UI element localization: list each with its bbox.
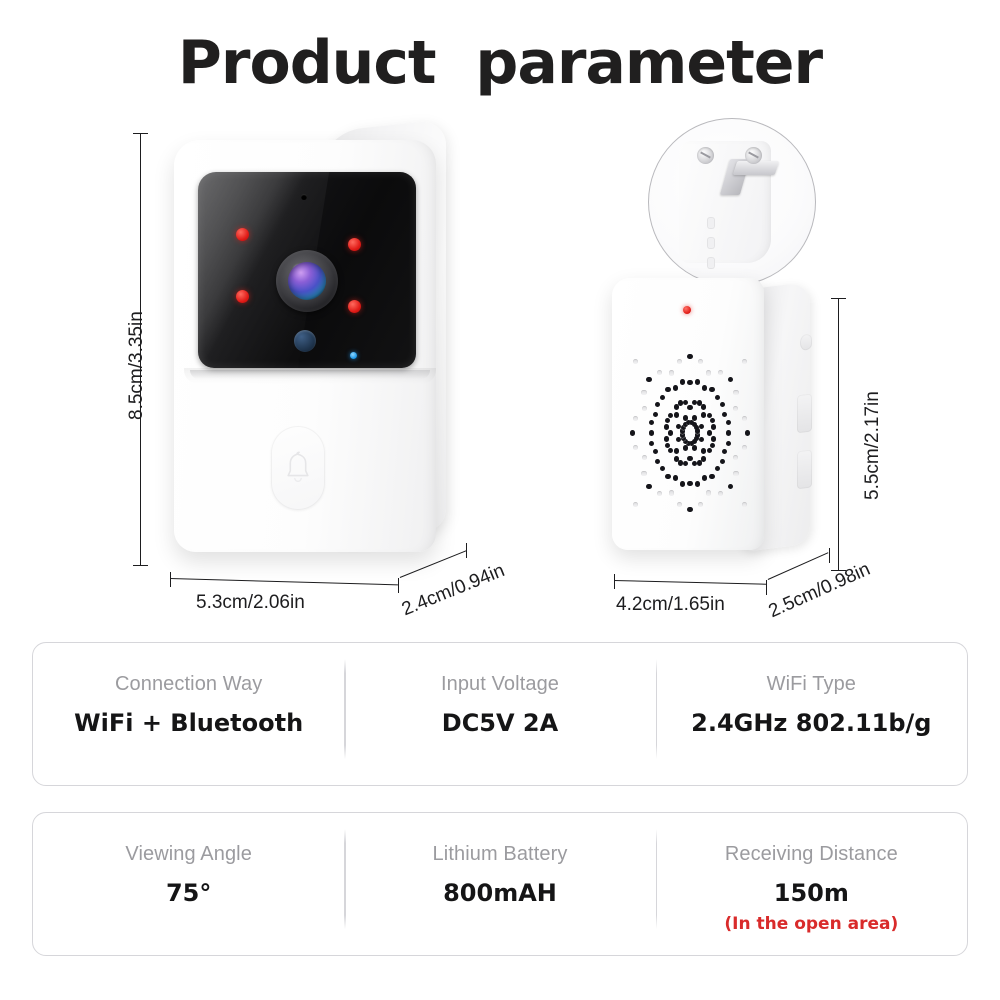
video-doorbell (168, 122, 468, 567)
spec-cell-receiving-distance: Receiving Distance 150m (In the open are… (656, 813, 967, 955)
dimension-tick (829, 548, 830, 563)
dimension-tick (614, 574, 615, 589)
spec-label: Connection Way (115, 673, 262, 696)
volume-buttons[interactable] (800, 333, 812, 350)
page-title: Product parameter (0, 28, 1000, 98)
volume-buttons[interactable] (797, 449, 812, 489)
dimension-tick (831, 298, 846, 299)
spec-row: Viewing Angle 75° Lithium Battery 800mAH… (33, 813, 967, 955)
doorbell-front-panel (198, 172, 416, 368)
infrared-led (348, 238, 361, 251)
product-hero-area: 8.5cm/3.35in 5.3cm/2.06in 2.4cm/0.94in (0, 100, 1000, 630)
spec-row: Connection Way WiFi + Bluetooth Input Vo… (33, 643, 967, 785)
spec-cell-lithium-battery: Lithium Battery 800mAH (344, 813, 655, 955)
dimension-tick (170, 572, 171, 587)
chime-height-label: 5.5cm/2.17in (862, 391, 884, 500)
spec-cell-connection-way: Connection Way WiFi + Bluetooth (33, 643, 344, 785)
volume-buttons[interactable] (797, 393, 812, 433)
chime-height-dimension-line (838, 298, 839, 570)
infrared-led (236, 290, 249, 303)
spec-value: 2.4GHz 802.11b/g (691, 709, 931, 737)
doorbell-front-body (174, 140, 436, 552)
screw-head (697, 147, 714, 164)
housing-vent (707, 217, 715, 229)
microphone-hole (301, 194, 307, 200)
spec-cell-input-voltage: Input Voltage DC5V 2A (344, 643, 655, 785)
chime-status-led (683, 306, 691, 314)
infographic-stage: Product parameter (0, 0, 1000, 1000)
spec-card: Connection Way WiFi + Bluetooth Input Vo… (32, 642, 968, 786)
spec-value: 150m (774, 879, 849, 907)
lens-highlight (294, 265, 304, 273)
spec-label: Viewing Angle (125, 843, 252, 866)
dimension-tick (466, 543, 467, 558)
spec-label: WiFi Type (767, 673, 856, 696)
doorbell-height-label: 8.5cm/3.35in (126, 311, 148, 420)
doorbell-depth-label: 2.4cm/0.94in (399, 560, 508, 621)
spec-card: Viewing Angle 75° Lithium Battery 800mAH… (32, 812, 968, 956)
spec-cell-viewing-angle: Viewing Angle 75° (33, 813, 344, 955)
light-sensor (294, 330, 316, 352)
doorbell-width-dimension-line (170, 578, 398, 586)
infrared-led (348, 300, 361, 313)
housing-vent (707, 237, 715, 249)
spec-label: Receiving Distance (725, 843, 898, 866)
dimension-tick (766, 580, 767, 595)
spec-label: Input Voltage (441, 673, 559, 696)
status-led-blue (350, 352, 357, 359)
dimension-tick (133, 565, 148, 566)
doorbell-body-seam (184, 368, 436, 384)
spec-note: (In the open area) (724, 914, 898, 934)
plug-detail-callout (648, 118, 816, 286)
infrared-led (236, 228, 249, 241)
spec-label: Lithium Battery (433, 843, 568, 866)
bell-icon (283, 451, 313, 483)
doorbell-width-label: 5.3cm/2.06in (196, 592, 305, 614)
screw-head (745, 147, 762, 164)
speaker-grill (620, 340, 760, 526)
camera-lens (276, 250, 338, 312)
chime-front-body (612, 278, 764, 550)
housing-vent (707, 257, 715, 269)
dimension-tick (133, 133, 148, 134)
spec-cell-wifi-type: WiFi Type 2.4GHz 802.11b/g (656, 643, 967, 785)
wireless-chime-receiver (612, 278, 817, 560)
doorbell-button[interactable] (271, 426, 325, 510)
spec-value: DC5V 2A (442, 709, 558, 737)
dimension-tick (398, 578, 399, 593)
spec-value: 800mAH (443, 879, 557, 907)
chime-width-dimension-line (614, 580, 766, 585)
spec-value: WiFi + Bluetooth (74, 709, 303, 737)
chime-depth-label: 2.5cm/0.98in (766, 559, 874, 623)
chime-width-label: 4.2cm/1.65in (616, 594, 725, 616)
spec-value: 75° (166, 879, 211, 907)
